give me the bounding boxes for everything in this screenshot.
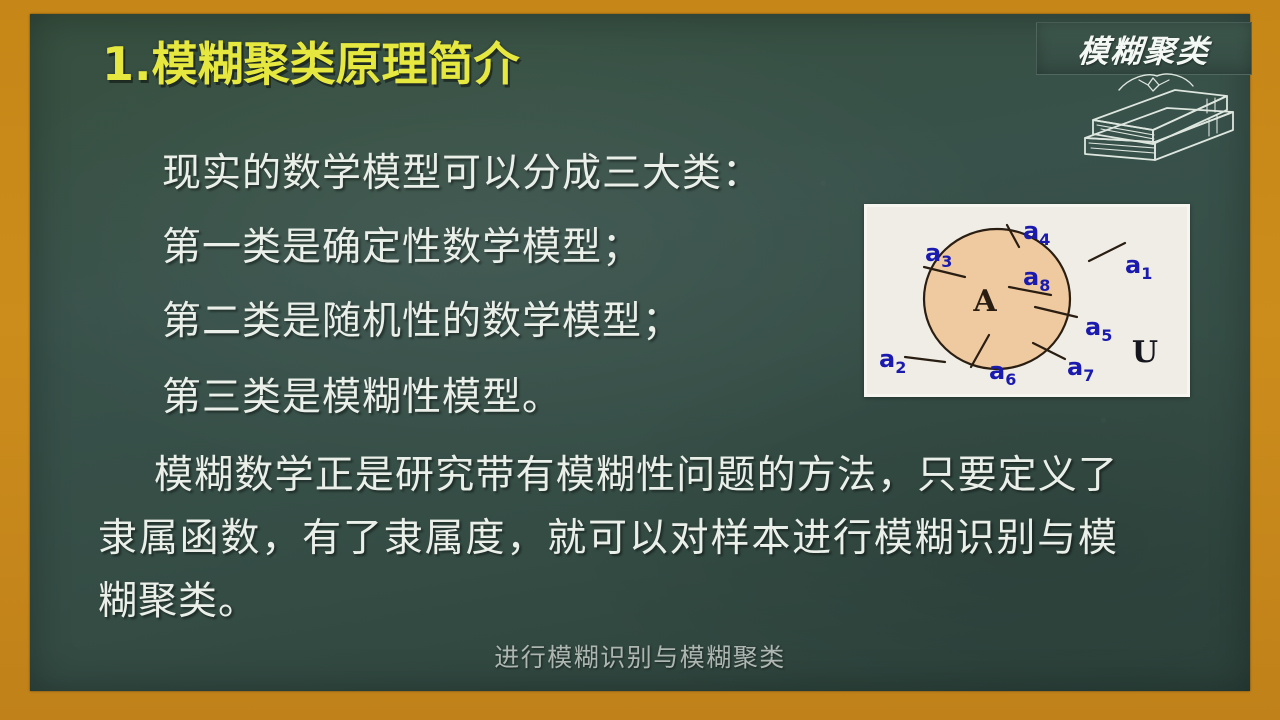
body-line: 第二类是随机性的数学模型； [162, 302, 682, 341]
body-line: 第一类是确定性数学模型； [162, 228, 642, 267]
fuzzy-set-diagram: A U a1 a2 a3 a4 a5 a6 a7 a8 [864, 204, 1190, 397]
body-line: 现实的数学模型可以分成三大类： [162, 154, 762, 193]
label-a7: a7 [1067, 353, 1094, 385]
body-line: 第三类是模糊性模型。 [162, 378, 562, 417]
label-a1: a1 [1125, 251, 1152, 283]
stacked-books-icon [1057, 68, 1253, 168]
label-a2: a2 [879, 345, 906, 377]
label-a5: a5 [1085, 313, 1112, 345]
tick-a1 [1089, 243, 1125, 261]
slide-root: 1.模糊聚类原理简介 模糊聚类 [0, 0, 1280, 720]
set-a-label: A [972, 284, 997, 319]
logo-title-label: 模糊聚类 [1076, 26, 1212, 71]
body-paragraph: 模糊数学正是研究带有模糊性问题的方法，只要定义了隶属函数，有了隶属度，就可以对样… [98, 444, 1118, 633]
label-a3: a3 [925, 239, 952, 271]
label-a4: a4 [1023, 217, 1050, 249]
page-title: 1.模糊聚类原理简介 [102, 41, 519, 87]
set-a-circle [924, 229, 1070, 369]
course-logo: 模糊聚类 [1033, 20, 1253, 170]
slide-caption: 进行模糊识别与模糊聚类 [0, 638, 1280, 674]
tick-a2 [905, 357, 945, 362]
universe-label: U [1132, 335, 1158, 370]
